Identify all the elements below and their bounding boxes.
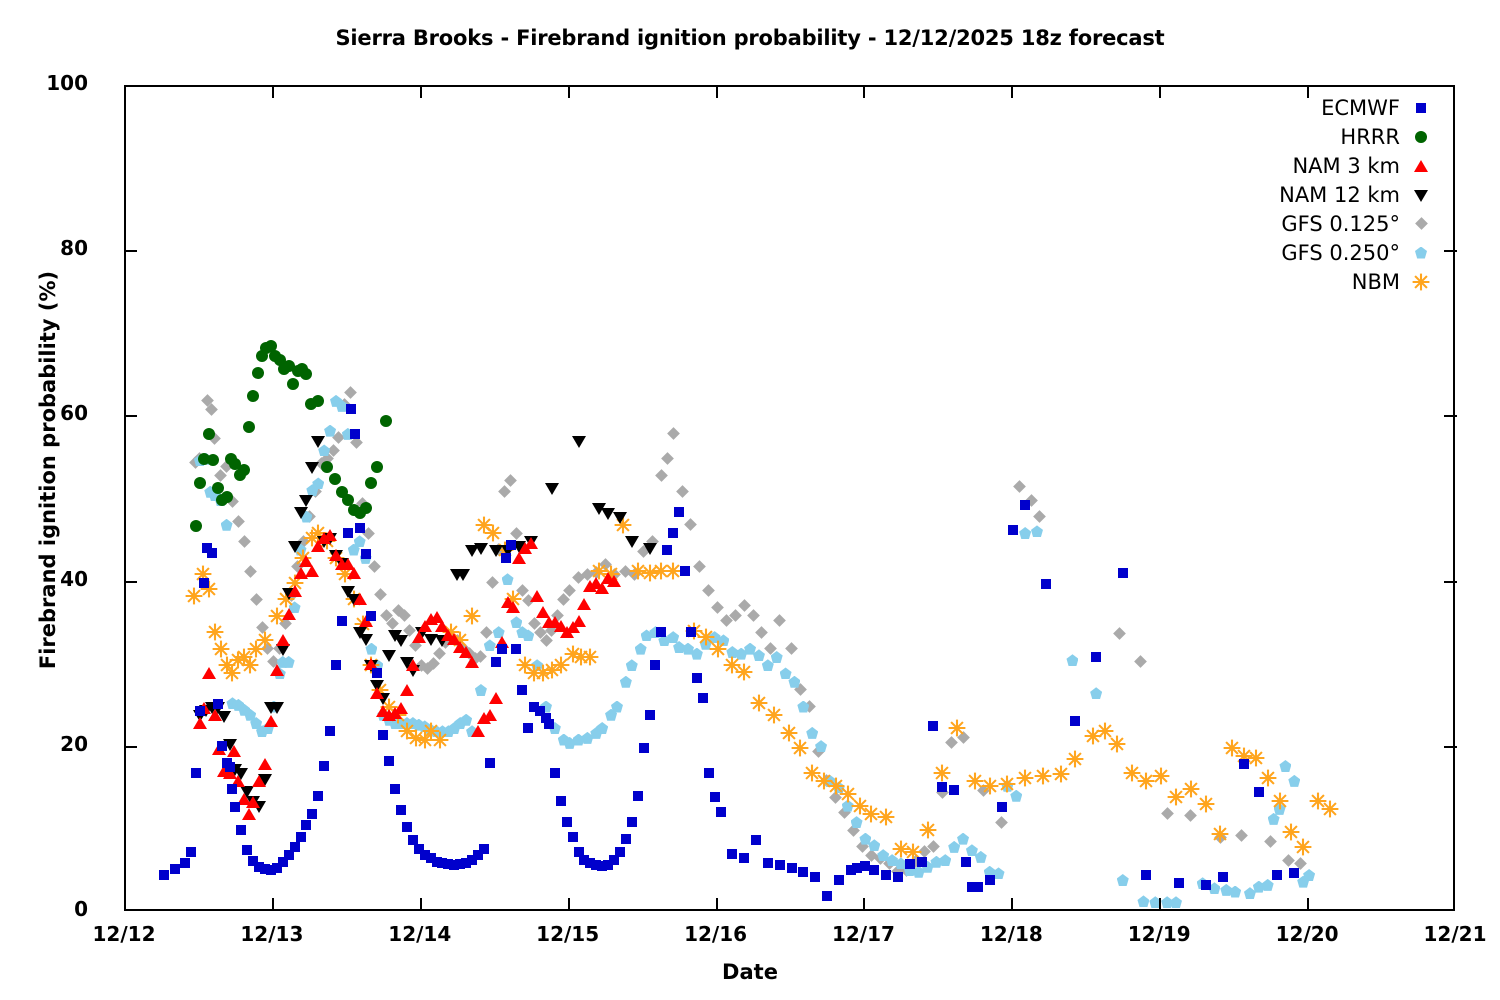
- data-point: [180, 858, 190, 868]
- data-point: [535, 706, 545, 716]
- x-tick-label: 12/20: [1247, 922, 1367, 946]
- data-point: [511, 644, 521, 654]
- data-point: [787, 863, 797, 873]
- data-point: [710, 792, 720, 802]
- y-tick-label: 0: [8, 897, 88, 921]
- data-point: [1239, 759, 1249, 769]
- data-point: [443, 859, 453, 869]
- data-point: [1272, 870, 1282, 880]
- data-point: [1289, 868, 1299, 878]
- legend-item-ecmwf[interactable]: ECMWF: [1150, 93, 1440, 122]
- data-point: [541, 713, 551, 723]
- data-point: [917, 857, 927, 867]
- legend-item-nam-3-km[interactable]: NAM 3 km: [1150, 151, 1440, 180]
- data-point: [763, 858, 773, 868]
- data-point: [579, 855, 589, 865]
- data-point: [668, 528, 678, 538]
- data-point: [384, 756, 394, 766]
- y-tick-mark: [124, 581, 137, 583]
- data-point: [170, 864, 180, 874]
- data-point: [284, 850, 294, 860]
- data-point: [727, 849, 737, 859]
- x-tick-mark: [1159, 898, 1161, 911]
- data-point: [313, 791, 323, 801]
- data-point: [775, 860, 785, 870]
- x-tick-mark: [568, 898, 570, 911]
- data-point: [378, 730, 388, 740]
- data-point: [639, 743, 649, 753]
- y-tick-label: 60: [8, 401, 88, 425]
- x-tick-mark: [568, 85, 570, 98]
- data-point: [361, 549, 371, 559]
- data-point: [704, 768, 714, 778]
- data-point: [186, 847, 196, 857]
- x-tick-mark: [1011, 898, 1013, 911]
- data-point: [645, 710, 655, 720]
- data-point: [869, 865, 879, 875]
- y-tick-label: 40: [8, 567, 88, 591]
- data-point: [973, 882, 983, 892]
- data-point: [585, 858, 595, 868]
- y-tick-mark: [1444, 415, 1457, 417]
- data-point: [390, 784, 400, 794]
- x-tick-label: 12/14: [360, 922, 480, 946]
- data-point: [491, 657, 501, 667]
- data-point: [290, 842, 300, 852]
- legend-pentagon-icon: [1412, 244, 1430, 262]
- data-point: [1141, 870, 1151, 880]
- x-tick-label: 12/16: [656, 922, 776, 946]
- data-point: [337, 616, 347, 626]
- data-point: [485, 758, 495, 768]
- data-point: [893, 872, 903, 882]
- data-point: [1041, 579, 1051, 589]
- data-point: [568, 832, 578, 842]
- x-axis-label: Date: [0, 960, 1500, 984]
- data-point: [207, 548, 217, 558]
- data-point: [1254, 787, 1264, 797]
- data-point: [997, 802, 1007, 812]
- legend-item-hrrr[interactable]: HRRR: [1150, 122, 1440, 151]
- data-point: [1118, 568, 1128, 578]
- data-point: [633, 791, 643, 801]
- x-tick-mark: [1307, 85, 1309, 98]
- data-point: [225, 762, 235, 772]
- y-tick-mark: [1444, 581, 1457, 583]
- data-point: [227, 784, 237, 794]
- chart-legend: ECMWFHRRRNAM 3 kmNAM 12 kmGFS 0.125°GFS …: [1150, 93, 1440, 296]
- data-point: [686, 627, 696, 637]
- data-point: [881, 870, 891, 880]
- data-point: [301, 820, 311, 830]
- data-point: [751, 835, 761, 845]
- data-point: [615, 847, 625, 857]
- data-point: [346, 404, 356, 414]
- legend-item-nbm[interactable]: NBM: [1150, 267, 1440, 296]
- data-point: [408, 835, 418, 845]
- x-tick-label: 12/21: [1395, 922, 1500, 946]
- data-point: [199, 578, 209, 588]
- data-point: [846, 865, 856, 875]
- data-point: [574, 847, 584, 857]
- data-point: [967, 882, 977, 892]
- data-point: [420, 850, 430, 860]
- legend-diamond-icon: [1412, 215, 1430, 233]
- data-point: [550, 768, 560, 778]
- chart-canvas: Sierra Brooks - Firebrand ignition proba…: [0, 0, 1500, 1000]
- data-point: [296, 832, 306, 842]
- y-tick-label: 100: [8, 71, 88, 95]
- x-tick-label: 12/19: [1099, 922, 1219, 946]
- data-point: [272, 863, 282, 873]
- data-point: [159, 870, 169, 880]
- data-point: [1174, 878, 1184, 888]
- data-point: [798, 867, 808, 877]
- legend-circle-icon: [1412, 128, 1430, 146]
- data-point: [242, 845, 252, 855]
- x-tick-mark: [420, 898, 422, 911]
- data-point: [562, 817, 572, 827]
- y-tick-label: 20: [8, 732, 88, 756]
- x-tick-mark: [420, 85, 422, 98]
- x-tick-mark: [863, 85, 865, 98]
- data-point: [517, 685, 527, 695]
- page-title: Sierra Brooks - Firebrand ignition proba…: [0, 26, 1500, 50]
- x-tick-mark: [1011, 85, 1013, 98]
- data-point: [331, 660, 341, 670]
- data-point: [822, 891, 832, 901]
- data-point: [254, 862, 264, 872]
- data-point: [698, 693, 708, 703]
- data-point: [461, 858, 471, 868]
- data-point: [597, 861, 607, 871]
- data-point: [810, 872, 820, 882]
- data-point: [627, 817, 637, 827]
- data-point: [325, 726, 335, 736]
- data-point: [501, 553, 511, 563]
- data-point: [985, 875, 995, 885]
- legend-square-icon: [1412, 99, 1430, 117]
- data-point: [191, 768, 201, 778]
- x-tick-mark: [272, 898, 274, 911]
- data-point: [1020, 500, 1030, 510]
- data-point: [195, 706, 205, 716]
- data-point: [1201, 880, 1211, 890]
- data-point: [662, 545, 672, 555]
- data-point: [609, 855, 619, 865]
- data-point: [222, 758, 232, 768]
- data-point: [343, 528, 353, 538]
- data-point: [692, 673, 702, 683]
- data-point: [905, 859, 915, 869]
- data-point: [928, 721, 938, 731]
- data-point: [366, 611, 376, 621]
- data-point: [372, 668, 382, 678]
- x-tick-label: 12/17: [803, 922, 923, 946]
- y-tick-mark: [124, 415, 137, 417]
- data-point: [479, 844, 489, 854]
- data-point: [591, 860, 601, 870]
- legend-item-gfs-0-125[interactable]: GFS 0.125°: [1150, 209, 1440, 238]
- legend-item-gfs-0-250[interactable]: GFS 0.250°: [1150, 238, 1440, 267]
- data-point: [674, 507, 684, 517]
- data-point: [449, 860, 459, 870]
- data-point: [278, 857, 288, 867]
- data-point: [202, 543, 212, 553]
- data-point: [396, 805, 406, 815]
- data-point: [961, 857, 971, 867]
- data-point: [834, 875, 844, 885]
- data-point: [529, 702, 539, 712]
- x-tick-mark: [272, 85, 274, 98]
- x-tick-label: 12/18: [951, 922, 1071, 946]
- data-point: [556, 796, 566, 806]
- x-tick-mark: [716, 898, 718, 911]
- data-point: [266, 865, 276, 875]
- legend-triangle-down-icon: [1412, 186, 1430, 204]
- data-point: [319, 761, 329, 771]
- x-tick-mark: [1307, 898, 1309, 911]
- x-tick-mark: [1159, 85, 1161, 98]
- data-point: [506, 540, 516, 550]
- data-point: [432, 857, 442, 867]
- data-point: [236, 825, 246, 835]
- data-point: [307, 809, 317, 819]
- data-point: [949, 785, 959, 795]
- y-tick-mark: [124, 250, 137, 252]
- data-point: [621, 834, 631, 844]
- data-point: [414, 844, 424, 854]
- data-point: [1008, 525, 1018, 535]
- data-point: [739, 853, 749, 863]
- data-point: [497, 644, 507, 654]
- data-point: [852, 863, 862, 873]
- data-point: [544, 719, 554, 729]
- x-tick-mark: [863, 898, 865, 911]
- data-point: [473, 850, 483, 860]
- data-point: [350, 429, 360, 439]
- legend-triangle-up-icon: [1412, 157, 1430, 175]
- data-point: [650, 660, 660, 670]
- x-tick-label: 12/15: [508, 922, 628, 946]
- data-point: [680, 566, 690, 576]
- x-tick-label: 12/12: [64, 922, 184, 946]
- data-point: [402, 822, 412, 832]
- x-tick-mark: [716, 85, 718, 98]
- x-tick-label: 12/13: [212, 922, 332, 946]
- data-point: [355, 523, 365, 533]
- data-point: [937, 782, 947, 792]
- data-point: [1070, 716, 1080, 726]
- y-tick-mark: [124, 746, 137, 748]
- data-point: [1218, 872, 1228, 882]
- data-point: [467, 855, 477, 865]
- data-point: [455, 859, 465, 869]
- data-point: [860, 861, 870, 871]
- y-tick-mark: [1444, 746, 1457, 748]
- data-point: [230, 802, 240, 812]
- y-tick-mark: [1444, 250, 1457, 252]
- y-tick-label: 80: [8, 236, 88, 260]
- legend-asterisk-icon: [1412, 273, 1430, 291]
- data-point: [217, 741, 227, 751]
- data-point: [437, 858, 447, 868]
- data-point: [1091, 652, 1101, 662]
- data-point: [603, 860, 613, 870]
- data-point: [716, 807, 726, 817]
- data-point: [426, 853, 436, 863]
- data-point: [523, 723, 533, 733]
- data-point: [213, 699, 223, 709]
- data-point: [260, 864, 270, 874]
- legend-item-nam-12-km[interactable]: NAM 12 km: [1150, 180, 1440, 209]
- data-point: [656, 627, 666, 637]
- data-point: [248, 856, 258, 866]
